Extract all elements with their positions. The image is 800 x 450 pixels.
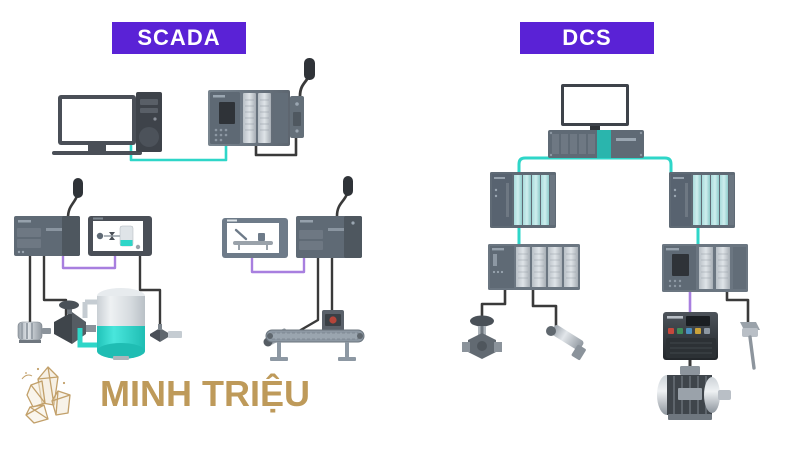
pc-tower-bay2 <box>140 108 158 113</box>
ctrl-cpu-leds <box>493 271 503 273</box>
monitor-neck <box>88 145 106 152</box>
hmi-screen <box>227 223 279 253</box>
cable-ctrl-transmitter-dcs <box>533 290 556 332</box>
ctrl-cpu <box>490 246 514 288</box>
conveyor-belt-dash <box>272 333 358 339</box>
storage-tank[interactable] <box>80 288 145 360</box>
dcs-title-text: DCS <box>562 25 611 51</box>
pc-fan-grille <box>139 127 159 147</box>
motor-drive-end <box>704 377 720 413</box>
control-valve-left[interactable] <box>54 301 96 345</box>
ctrl-cpu-panel <box>493 254 497 266</box>
photo-lens <box>329 316 336 323</box>
plc-end-cover <box>274 93 288 143</box>
server-label <box>616 138 636 141</box>
io-end-cover <box>550 175 555 225</box>
io-cpu-brand <box>673 177 684 179</box>
remote-plc-right[interactable] <box>296 216 362 258</box>
cable-plc-hmi-right <box>252 258 304 272</box>
vfd-brand <box>667 316 683 319</box>
valve-actuator-dome <box>470 316 494 327</box>
valve-hub <box>477 341 487 351</box>
hmi-graphic-leg1 <box>238 245 240 250</box>
hmi-brand <box>227 220 237 222</box>
outlet-valve-body <box>150 328 160 342</box>
motor-base <box>19 340 41 343</box>
hmi-panel-right[interactable] <box>222 218 288 258</box>
pc-tower-bay <box>140 99 158 105</box>
valve-body <box>54 312 72 344</box>
io-rack-left[interactable] <box>490 172 556 228</box>
conveyor-foot-right <box>338 357 356 361</box>
antenna-top <box>304 58 315 80</box>
hmi-graphic-liquid <box>121 240 133 246</box>
valve-actuator <box>59 301 79 310</box>
radio-modem-top[interactable] <box>290 58 315 138</box>
controller-left[interactable] <box>488 244 580 290</box>
dcs-title-badge: DCS <box>520 22 654 54</box>
io-cpu-led2 <box>495 195 497 197</box>
plc-led-2 <box>22 251 24 253</box>
cable-plc-hmi-left <box>63 256 115 268</box>
scada-title-text: SCADA <box>137 25 220 51</box>
dcs-server-rack[interactable] <box>548 130 644 158</box>
outlet-valve-stem <box>158 324 162 330</box>
ctrl-end-cover <box>733 247 746 289</box>
server-bays <box>552 134 595 154</box>
remote-plc-left[interactable] <box>14 216 80 256</box>
antenna-left <box>73 178 83 198</box>
radio-led-a <box>295 102 299 106</box>
ctrl-brand <box>492 248 504 250</box>
motor-terminal-box <box>680 366 700 375</box>
motor-shaft <box>42 328 51 334</box>
plc-led-1 <box>18 251 20 253</box>
controller-right[interactable] <box>662 244 748 292</box>
monitor-screen <box>62 99 132 141</box>
plc-brand-label <box>300 220 313 223</box>
control-valve-dcs[interactable] <box>462 316 502 360</box>
valve-outlet <box>86 325 96 332</box>
conveyor-belt[interactable] <box>266 330 364 361</box>
radio-led-b <box>295 129 298 132</box>
motor-shaft <box>718 390 731 400</box>
outlet-valve-pipe <box>168 331 182 338</box>
cable-ctrl-valve-dcs <box>482 290 505 318</box>
valve-outlet <box>494 342 502 352</box>
plc-terminal-strip <box>17 228 41 237</box>
ctrl-display <box>672 254 689 276</box>
motor-fins2 <box>26 323 28 339</box>
hmi-brand <box>93 218 103 220</box>
plc-terminal-strip2 <box>17 239 41 248</box>
conveyor-roller-left <box>267 333 273 339</box>
hmi-graphic-leg2 <box>266 245 268 250</box>
cable-antenna-left <box>68 196 77 218</box>
conveyor-leg-right <box>345 342 349 358</box>
plc-cpu-label <box>213 95 225 98</box>
plc-terminal-strip <box>299 230 323 239</box>
watermark: MINH TRIỆU <box>18 358 318 430</box>
ctrl-brand <box>666 248 679 250</box>
outlet-valve[interactable] <box>150 324 182 342</box>
motor-base-foot <box>668 414 712 420</box>
vfd-display <box>686 316 710 326</box>
transmitter-dcs[interactable] <box>546 324 586 361</box>
hmi-graphic-conveyor <box>233 241 273 245</box>
motor-nameplate <box>678 388 702 400</box>
io-end-cover <box>729 175 734 225</box>
motor-fins <box>21 323 23 339</box>
hmi-graphic-pump <box>97 233 103 239</box>
conveyor-leg-left <box>277 342 281 358</box>
level-sensor-dcs[interactable] <box>740 322 760 368</box>
io-cpu-led <box>495 189 497 191</box>
radio-panel <box>293 112 301 126</box>
plc-brand-label <box>18 220 31 223</box>
io-cpu-led <box>674 189 676 191</box>
workstation-pc[interactable] <box>52 92 162 155</box>
transmitter-head <box>546 326 556 336</box>
io-cpu-slot <box>506 183 509 217</box>
pc-power-led <box>153 117 156 120</box>
crystal-gem-logo <box>18 361 90 427</box>
sensor-probe <box>750 337 754 368</box>
hmi-panel-left[interactable] <box>88 216 152 256</box>
io-cpu-led2 <box>674 195 676 197</box>
operator-monitor[interactable] <box>561 84 629 131</box>
vfd-drive[interactable] <box>663 312 718 360</box>
monitor-base <box>52 151 142 155</box>
pump-motor-left[interactable] <box>18 322 51 343</box>
scada-title-badge: SCADA <box>112 22 246 54</box>
server-accent-panel <box>597 130 611 158</box>
master-plc-rack[interactable] <box>208 90 290 146</box>
plc-terminal-strip2 <box>299 241 323 250</box>
hmi-graphic-sensor <box>136 245 140 249</box>
io-cpu-brand <box>494 177 505 179</box>
antenna-right <box>343 176 353 196</box>
motor-fins3 <box>31 323 33 339</box>
monitor-screen <box>564 87 626 123</box>
conveyor-roller-right <box>357 333 363 339</box>
cable-ctrl-levelsensor <box>727 290 748 322</box>
io-cpu-slot <box>685 183 688 217</box>
watermark-text: MINH TRIỆU <box>100 373 310 415</box>
hmi-graphic-box <box>258 233 265 241</box>
cable-plc-prox <box>287 252 318 338</box>
plc-status-led <box>351 221 354 224</box>
valve-inlet <box>462 342 470 352</box>
plc-side-port <box>62 216 80 256</box>
io-rack-right[interactable] <box>669 172 735 228</box>
electric-motor[interactable] <box>657 366 731 420</box>
plc-cpu-display <box>219 102 235 124</box>
cable-antenna-right <box>337 194 347 216</box>
